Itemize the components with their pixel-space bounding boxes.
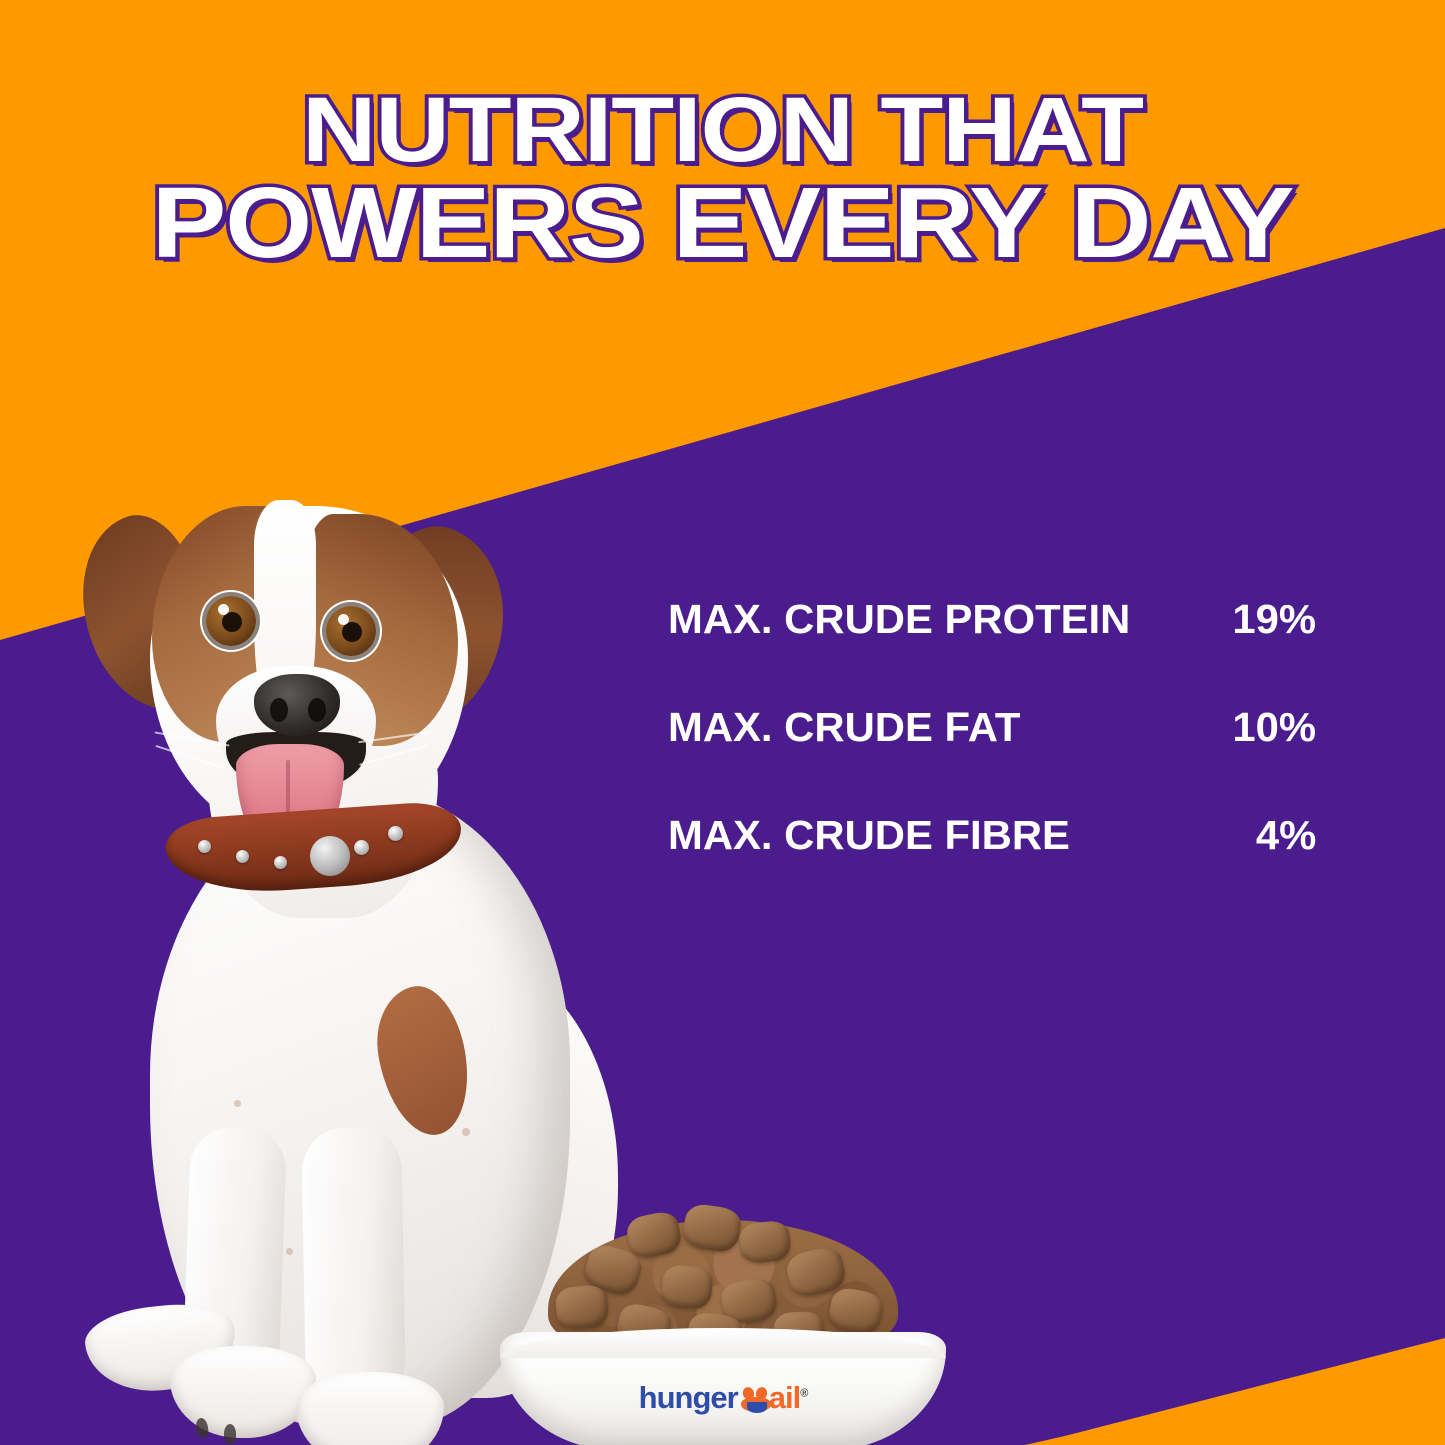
nutrition-row-protein: MAX. CRUDE PROTEIN 19% — [668, 596, 1316, 704]
nutrition-label: MAX. CRUDE FAT — [668, 704, 1020, 751]
collar-stud — [388, 826, 403, 841]
collar-stud — [236, 850, 249, 863]
dog-paw-left — [170, 1346, 316, 1438]
dog-freckle — [462, 1128, 470, 1136]
kibble-piece — [661, 1264, 714, 1309]
collar-stud — [198, 840, 211, 853]
dog-freckle — [234, 1100, 241, 1107]
kibble-piece — [554, 1284, 609, 1330]
collar-stud — [354, 840, 369, 855]
nutrition-row-fibre: MAX. CRUDE FIBRE 4% — [668, 812, 1316, 920]
dog-eye-glint-right — [338, 614, 349, 625]
dog-paw-right — [296, 1372, 444, 1445]
dog-eye-glint-left — [218, 604, 229, 615]
dog-nostril-left — [270, 698, 288, 722]
dog-pupil-right — [342, 622, 362, 642]
nutrition-facts-list: MAX. CRUDE PROTEIN 19% MAX. CRUDE FAT 10… — [668, 596, 1316, 920]
brand-logo: hungerail® — [478, 1380, 968, 1416]
paw-icon — [741, 1387, 771, 1413]
dog-freckle — [286, 1248, 293, 1255]
nutrition-label: MAX. CRUDE PROTEIN — [668, 596, 1130, 643]
nutrition-value: 4% — [1256, 812, 1316, 859]
banner-canvas: NUTRITION THAT POWERS EVERY DAY — [0, 0, 1445, 1445]
logo-text-hunger: hunger — [639, 1380, 738, 1415]
nutrition-label: MAX. CRUDE FIBRE — [668, 812, 1070, 859]
logo-text-tail: ail — [769, 1380, 800, 1415]
registered-trademark-icon: ® — [800, 1388, 807, 1400]
collar-ring — [310, 836, 350, 876]
dog-nail — [224, 1424, 236, 1444]
collar-stud — [274, 856, 287, 869]
dog-nostril-right — [308, 698, 326, 722]
nutrition-value: 19% — [1232, 596, 1316, 643]
dog-pupil-left — [222, 612, 242, 632]
food-bowl-group: hungerail® — [478, 1220, 968, 1445]
nutrition-value: 10% — [1232, 704, 1316, 751]
nutrition-row-fat: MAX. CRUDE FAT 10% — [668, 704, 1316, 812]
